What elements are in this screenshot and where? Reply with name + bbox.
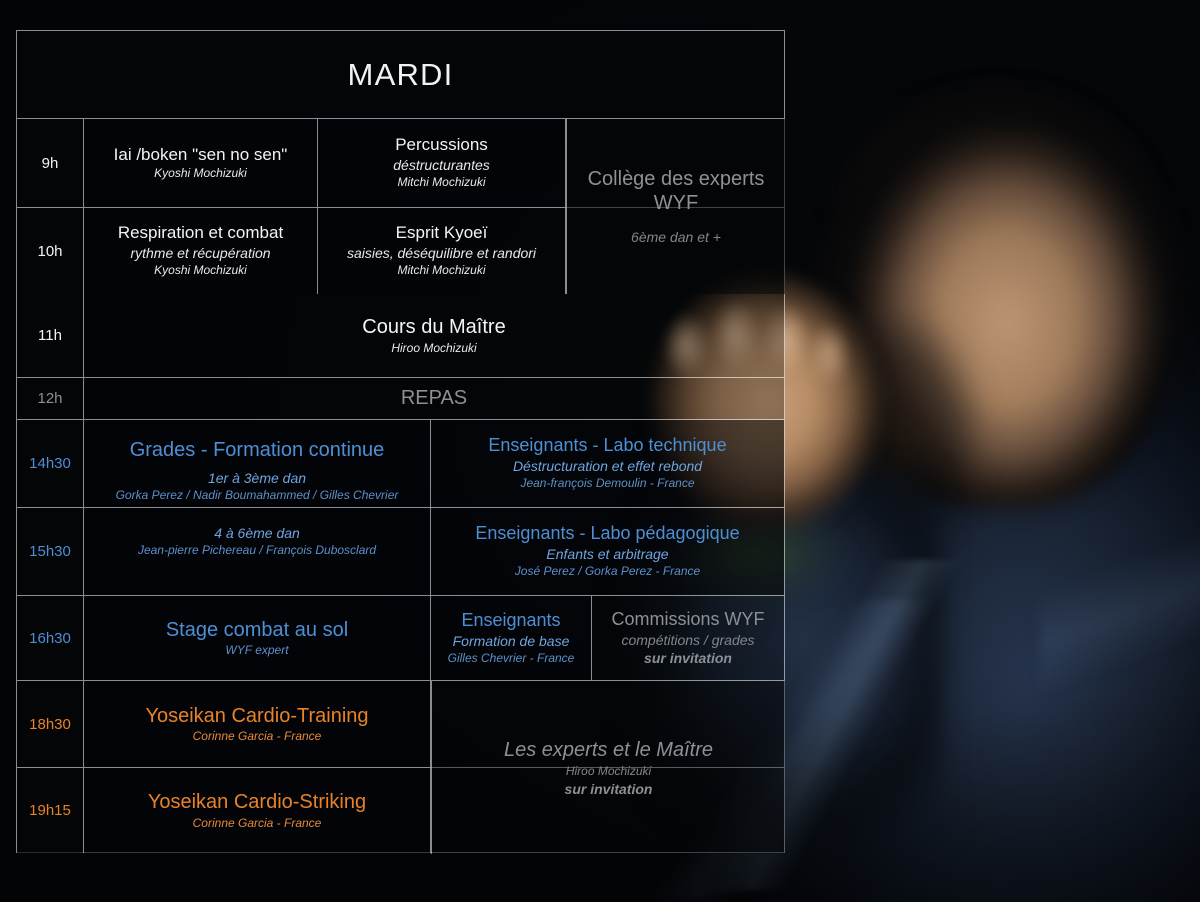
session-grades-bottom[interactable]: 4 à 6ème dan Jean-pierre Pichereau / Fra… [84, 508, 431, 595]
session-college-experts[interactable]: Collège des experts WYF 6ème dan et + [566, 119, 785, 294]
session-stage-combat[interactable]: Stage combat au sol WYF expert [84, 596, 431, 680]
session-title: Enseignants [461, 610, 560, 632]
session-title: Esprit Kyoeï [396, 223, 488, 244]
schedule-row-15h30: 15h30 4 à 6ème dan Jean-pierre Pichereau… [17, 507, 784, 595]
schedule-row-16h30: 16h30 Stage combat au sol WYF expert Ens… [17, 595, 784, 680]
session-title: Les experts et le Maître [504, 737, 713, 763]
session-instructor: Corinne Garcia - France [193, 728, 322, 744]
day-title: MARDI [17, 31, 784, 119]
session-enseignants-base[interactable]: Enseignants Formation de base Gilles Che… [431, 596, 592, 680]
session-commissions-wyf[interactable]: Commissions WYF compétitions / grades su… [592, 596, 784, 680]
time-label-16h30: 16h30 [17, 596, 84, 680]
schedule-table: MARDI 9h Iai /boken "sen no sen" Kyoshi … [16, 30, 785, 853]
session-title: Percussions [395, 135, 488, 156]
session-instructor: Jean-françois Demoulin - France [520, 475, 694, 491]
time-label-15h30: 15h30 [17, 508, 84, 595]
session-note: sur invitation [565, 780, 653, 798]
session-subtitle: saisies, déséquilibre et randori [347, 244, 536, 262]
time-label-9h: 9h [17, 119, 84, 207]
session-iai[interactable]: Iai /boken "sen no sen" Kyoshi Mochizuki [84, 119, 318, 207]
time-label-11h: 11h [17, 294, 84, 377]
session-instructor: Gilles Chevrier - France [448, 650, 575, 666]
session-respiration[interactable]: Respiration et combat rythme et récupéra… [84, 208, 318, 294]
session-title: Yoseikan Cardio-Training [145, 704, 368, 728]
session-cardio-training[interactable]: Yoseikan Cardio-Training Corinne Garcia … [84, 681, 431, 767]
session-labo-technique[interactable]: Enseignants - Labo technique Déstructura… [431, 420, 784, 507]
session-instructor: Mitchi Mochizuki [397, 174, 485, 190]
grades-group2-instructors: Jean-pierre Pichereau / François Duboscl… [138, 542, 376, 558]
session-instructor: Hiroo Mochizuki [391, 340, 476, 356]
session-instructor: Kyoshi Mochizuki [154, 262, 247, 278]
time-label-12h: 12h [17, 378, 84, 419]
session-title: Enseignants - Labo technique [488, 435, 726, 457]
session-repas: REPAS [84, 378, 784, 419]
session-title: Enseignants - Labo pédagogique [475, 523, 739, 545]
time-label-19h15: 19h15 [17, 768, 84, 853]
session-instructor: Mitchi Mochizuki [397, 262, 485, 278]
session-cardio-striking[interactable]: Yoseikan Cardio-Striking Corinne Garcia … [84, 768, 431, 853]
session-instructor: Kyoshi Mochizuki [154, 165, 247, 181]
session-title-line2: WYF [654, 191, 698, 215]
session-title: Respiration et combat [118, 223, 283, 244]
session-subtitle: Déstructuration et effet rebond [513, 457, 702, 475]
session-labo-pedagogique[interactable]: Enseignants - Labo pédagogique Enfants e… [431, 508, 784, 595]
evening-block: 18h30 Yoseikan Cardio-Training Corinne G… [17, 680, 784, 853]
session-note: sur invitation [644, 649, 732, 667]
session-title: Cours du Maître [362, 315, 505, 339]
session-esprit-kyoei[interactable]: Esprit Kyoeï saisies, déséquilibre et ra… [318, 208, 566, 294]
time-label-10h: 10h [17, 208, 84, 294]
session-title-line1: Collège des experts [588, 167, 765, 191]
session-cours-du-maitre[interactable]: Cours du Maître Hiroo Mochizuki [84, 294, 784, 377]
schedule-row-12h: 12h REPAS [17, 377, 784, 419]
session-title: Stage combat au sol [166, 618, 348, 642]
time-label-14h30: 14h30 [17, 420, 84, 507]
session-title: Commissions WYF [611, 609, 764, 631]
session-grades-top[interactable]: Grades - Formation continue 1er à 3ème d… [84, 420, 431, 507]
grades-group1-level: 1er à 3ème dan [208, 469, 306, 487]
session-subtitle: Enfants et arbitrage [546, 545, 668, 563]
session-subtitle: déstructurantes [393, 156, 490, 174]
session-title: Grades - Formation continue [130, 438, 385, 462]
session-note: 6ème dan et + [631, 228, 721, 246]
session-subtitle: Formation de base [453, 632, 570, 650]
grades-group1-instructors: Gorka Perez / Nadir Boumahammed / Gilles… [116, 487, 399, 503]
schedule-row-11h: 11h Cours du Maître Hiroo Mochizuki [17, 294, 784, 377]
session-instructor: Corinne Garcia - France [193, 815, 322, 831]
session-percussions[interactable]: Percussions déstructurantes Mitchi Mochi… [318, 119, 566, 207]
session-instructor: José Perez / Gorka Perez - France [515, 563, 700, 579]
schedule-row-14h30: 14h30 Grades - Formation continue 1er à … [17, 419, 784, 507]
grades-group2-level: 4 à 6ème dan [214, 524, 300, 542]
session-subtitle: compétitions / grades [621, 631, 754, 649]
time-label-18h30: 18h30 [17, 681, 84, 767]
session-title: Iai /boken "sen no sen" [114, 145, 288, 166]
session-subtitle: WYF expert [225, 642, 288, 658]
session-title: REPAS [401, 386, 467, 410]
session-instructor: Hiroo Mochizuki [566, 763, 651, 779]
session-subtitle: rythme et récupération [130, 244, 270, 262]
morning-block: 9h Iai /boken "sen no sen" Kyoshi Mochiz… [17, 119, 784, 294]
session-title: Yoseikan Cardio-Striking [148, 790, 366, 814]
session-experts-maitre[interactable]: Les experts et le Maître Hiroo Mochizuki… [431, 681, 785, 854]
